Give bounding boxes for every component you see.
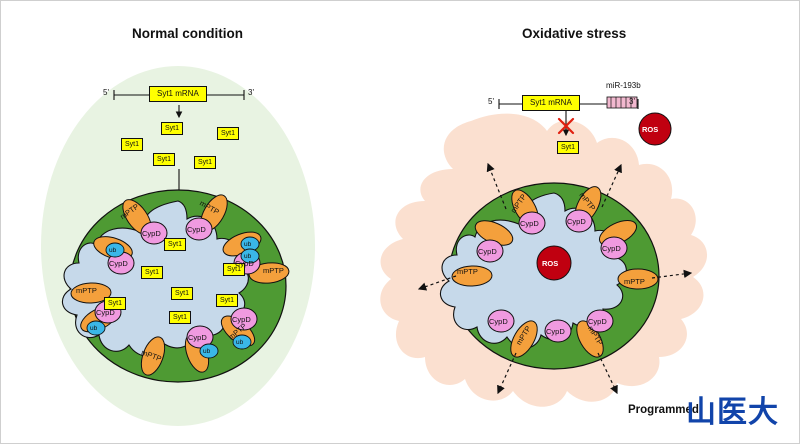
syt1-tag: Syt1 xyxy=(217,127,239,140)
left-mrna-tag: Syt1 mRNA xyxy=(149,86,207,102)
ub-label: ub xyxy=(203,348,210,355)
cypd-label: CypD xyxy=(520,219,539,228)
cypd-label: CypD xyxy=(588,317,607,326)
left-five-prime-label: 5' xyxy=(103,88,109,97)
mptp-label: mPTP xyxy=(457,267,478,276)
syt1-tag: Syt1 xyxy=(169,311,191,324)
left-three-prime-label: 3' xyxy=(248,88,254,97)
ub-label: ub xyxy=(244,253,251,260)
right-mrna-tag: Syt1 mRNA xyxy=(522,95,580,111)
cypd-label: CypD xyxy=(567,217,586,226)
mptp-label: mPTP xyxy=(624,277,645,286)
cypd-label: CypD xyxy=(602,244,621,253)
cypd-label: CypD xyxy=(478,247,497,256)
mptp-label: mPTP xyxy=(76,286,97,295)
syt1-tag: Syt1 xyxy=(171,287,193,300)
ub-label: ub xyxy=(90,325,97,332)
cypd-label: CypD xyxy=(188,333,207,342)
panel-title-left: Normal condition xyxy=(132,26,243,41)
cypd-label: CypD xyxy=(187,225,206,234)
ros-label-top: ROS xyxy=(642,125,658,134)
ub-label: ub xyxy=(109,247,116,254)
syt1-tag: Syt1 xyxy=(557,141,579,154)
right-three-prime-label: 3' xyxy=(629,97,635,106)
syt1-tag: Syt1 xyxy=(153,153,175,166)
syt1-tag: Syt1 xyxy=(164,238,186,251)
cypd-label: CypD xyxy=(489,317,508,326)
syt1-tag: Syt1 xyxy=(161,122,183,135)
syt1-tag: Syt1 xyxy=(141,266,163,279)
cypd-label: CypD xyxy=(232,315,251,324)
right-cell-layer xyxy=(1,1,800,445)
watermark-logo: 山医大 xyxy=(686,393,794,433)
ub-label: ub xyxy=(244,241,251,248)
cypd-label: CypD xyxy=(235,259,254,268)
cypd-label: CypD xyxy=(96,308,115,317)
mptp-label: mPTP xyxy=(263,266,284,275)
mirna-label: miR-193b xyxy=(606,81,641,90)
cypd-label: CypD xyxy=(546,327,565,336)
ub-label: ub xyxy=(236,339,243,346)
ros-label-center: ROS xyxy=(542,259,558,268)
panel-title-right: Oxidative stress xyxy=(522,26,626,41)
cypd-label: CypD xyxy=(109,259,128,268)
syt1-tag: Syt1 xyxy=(121,138,143,151)
cypd-label: CypD xyxy=(142,229,161,238)
right-five-prime-label: 5' xyxy=(488,97,494,106)
syt1-tag: Syt1 xyxy=(216,294,238,307)
figure-root: Normal condition Oxidative stress 5' 3' … xyxy=(0,0,800,444)
syt1-tag: Syt1 xyxy=(194,156,216,169)
